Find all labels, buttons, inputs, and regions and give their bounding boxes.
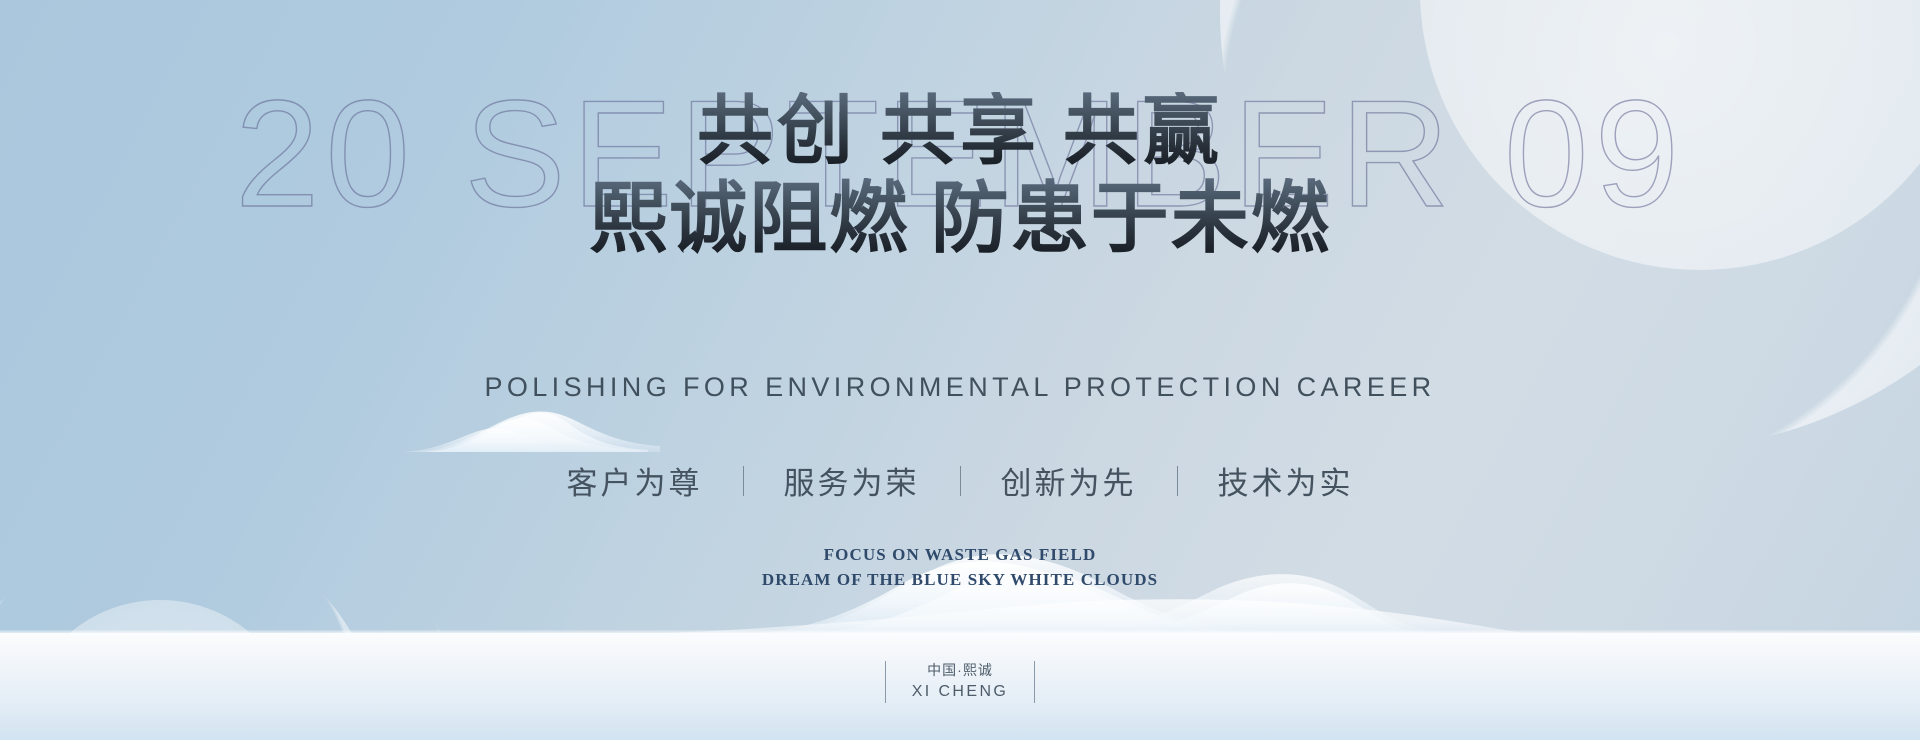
promotional-banner: 20 SEPTEMBER 09 共创 共享 共赢 熙诚阻燃 防患于未燃 POLI… <box>0 0 1920 740</box>
value-divider-2 <box>960 466 961 496</box>
value-phrase-1: 客户为尊 <box>567 458 703 503</box>
brand-name-cn: 中国·熙诚 <box>912 660 1009 681</box>
value-phrase-2: 服务为荣 <box>784 458 920 503</box>
footer-divider-right <box>1034 661 1035 703</box>
value-phrase-3: 创新为先 <box>1001 458 1137 503</box>
footer-divider-left <box>885 661 886 703</box>
value-phrase-4: 技术为实 <box>1218 458 1354 503</box>
brand-name-en: XI CHENG <box>912 681 1009 703</box>
sub-slogan-block: FOCUS ON WASTE GAS FIELD DREAM OF THE BL… <box>0 543 1920 592</box>
headline-line-1: 共创 共享 共赢 <box>0 92 1920 173</box>
value-divider-1 <box>743 466 744 496</box>
sub-slogan-line-1: FOCUS ON WASTE GAS FIELD <box>0 543 1920 568</box>
footer-brand-lockup: 中国·熙诚 XI CHENG <box>0 660 1920 703</box>
value-divider-3 <box>1177 466 1178 496</box>
headline-line-2: 熙诚阻燃 防患于未燃 <box>0 178 1920 261</box>
value-phrase-row: 客户为尊 服务为荣 创新为先 技术为实 <box>0 458 1920 503</box>
brand-name: 中国·熙诚 XI CHENG <box>912 660 1009 703</box>
english-tagline: POLISHING FOR ENVIRONMENTAL PROTECTION C… <box>0 372 1920 403</box>
sub-slogan-line-2: DREAM OF THE BLUE SKY WHITE CLOUDS <box>0 568 1920 593</box>
